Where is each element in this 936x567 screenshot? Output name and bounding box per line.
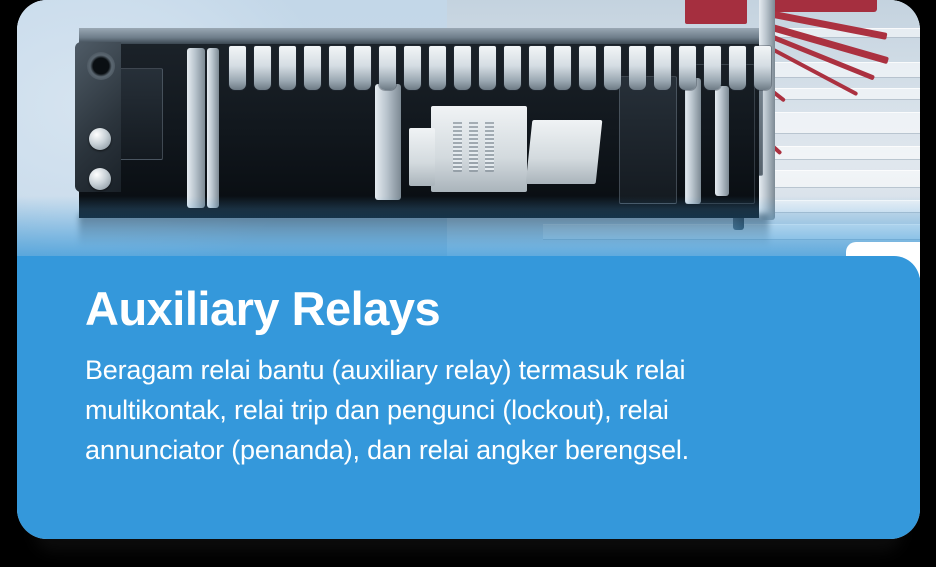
terminal (404, 46, 421, 90)
relay-screw (89, 168, 111, 190)
relay-contact-strip (485, 120, 494, 172)
relay-chassis (79, 28, 759, 218)
terminal (229, 46, 246, 90)
terminal (304, 46, 321, 90)
terminal (579, 46, 596, 90)
relay-top-rail (79, 28, 759, 44)
info-panel-content: Auxiliary Relays Beragam relai bantu (au… (85, 282, 875, 470)
terminal (504, 46, 521, 90)
description-line-1: Beragam relai bantu (auxiliary relay) te… (85, 350, 875, 390)
card-photo (17, 0, 920, 300)
terminal (454, 46, 471, 90)
relay-coil-module (526, 120, 603, 184)
terminal-comb (229, 46, 789, 94)
terminal (679, 46, 696, 90)
relay-coil-module (409, 128, 435, 186)
terminal (704, 46, 721, 90)
page-title: Auxiliary Relays (85, 282, 875, 336)
description-line-3: annunciator (penanda), dan relai angker … (85, 430, 875, 470)
terminal (379, 46, 396, 90)
relay-screw (89, 128, 111, 150)
red-terminal-block (685, 0, 747, 24)
description-line-2: multikontak, relai trip dan pengunci (lo… (85, 390, 875, 430)
relay-bolt-hole (87, 52, 115, 80)
terminal (529, 46, 546, 90)
relay-module (619, 76, 677, 204)
terminal (654, 46, 671, 90)
terminal (754, 46, 771, 90)
relay-insulator-post (375, 84, 401, 200)
auxiliary-relays-card[interactable]: Auxiliary Relays Beragam relai bantu (au… (17, 0, 920, 539)
terminal (729, 46, 746, 90)
relay-contact-strip (469, 120, 478, 172)
relay-insulator-post (207, 48, 219, 208)
terminal (354, 46, 371, 90)
info-panel: Auxiliary Relays Beragam relai bantu (au… (17, 256, 920, 539)
relay-insulator-post (187, 48, 205, 208)
terminal (479, 46, 496, 90)
terminal (279, 46, 296, 90)
red-terminal-block (759, 0, 877, 12)
terminal (629, 46, 646, 90)
relay-coil-module (431, 106, 527, 192)
terminal (554, 46, 571, 90)
screenshot-stage: Auxiliary Relays Beragam relai bantu (au… (0, 0, 936, 567)
relay-contact-strip (453, 120, 462, 172)
card-description: Beragam relai bantu (auxiliary relay) te… (85, 350, 875, 470)
terminal (329, 46, 346, 90)
terminal (604, 46, 621, 90)
terminal (429, 46, 446, 90)
terminal (254, 46, 271, 90)
